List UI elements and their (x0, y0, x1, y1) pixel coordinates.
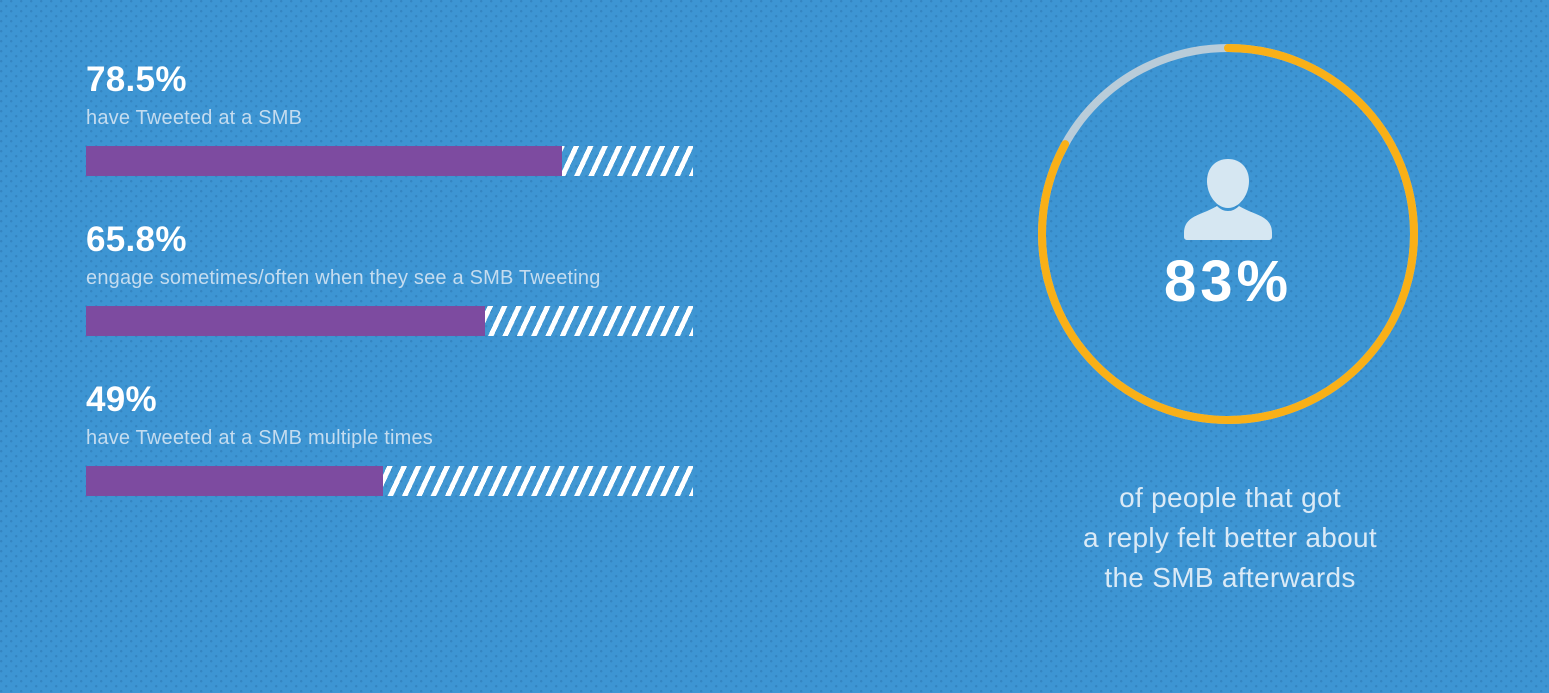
stat-label: have Tweeted at a SMB (86, 107, 846, 129)
stat-value: 65.8% (86, 222, 846, 257)
bar-track (86, 306, 693, 336)
stat-value: 49% (86, 382, 846, 417)
donut-center-content: 83% (1038, 44, 1418, 424)
stats-panel: 78.5% have Tweeted at a SMB 65.8% engage… (86, 62, 846, 496)
infographic-canvas: 78.5% have Tweeted at a SMB 65.8% engage… (0, 0, 1549, 693)
stat-label: have Tweeted at a SMB multiple times (86, 427, 846, 449)
person-icon (1182, 157, 1274, 241)
bar-track (86, 146, 693, 176)
bar-track (86, 466, 693, 496)
donut-caption-line: a reply felt better about (945, 518, 1515, 558)
donut-caption-line: of people that got (945, 478, 1515, 518)
bar-fill (86, 306, 485, 336)
stat-block: 65.8% engage sometimes/often when they s… (86, 222, 846, 336)
stat-value: 78.5% (86, 62, 846, 97)
stat-label: engage sometimes/often when they see a S… (86, 267, 846, 289)
donut-value-label: 83% (1164, 253, 1292, 311)
bar-fill (86, 466, 383, 496)
stat-block: 78.5% have Tweeted at a SMB (86, 62, 846, 176)
bar-fill (86, 146, 562, 176)
stat-block: 49% have Tweeted at a SMB multiple times (86, 382, 846, 496)
person-shoulders (1184, 206, 1272, 240)
person-head (1207, 159, 1249, 208)
donut-panel: 83% (1038, 44, 1418, 424)
donut-caption: of people that got a reply felt better a… (945, 478, 1515, 598)
donut-gauge: 83% (1038, 44, 1418, 424)
donut-caption-line: the SMB afterwards (945, 558, 1515, 598)
